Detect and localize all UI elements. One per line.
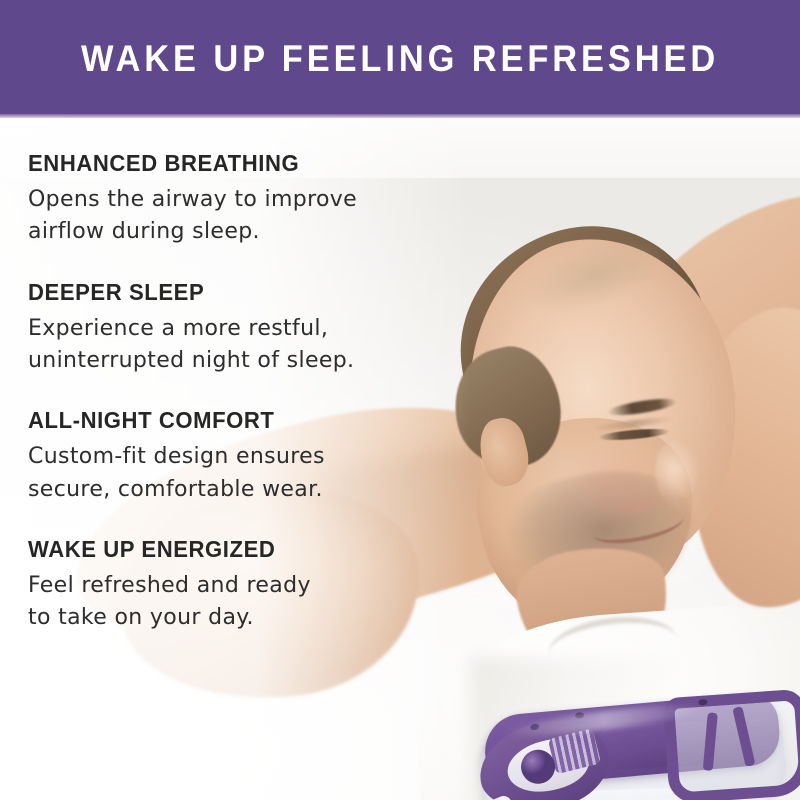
page-title: WAKE UP FEELING REFRESHED (81, 38, 719, 80)
benefit-line: Custom-fit design ensures (28, 441, 468, 473)
benefit-line: Experience a more restful, (28, 313, 468, 345)
benefit-line: Opens the airway to improve (28, 184, 468, 216)
benefit-line: airflow during sleep. (28, 216, 468, 248)
benefit-item: ENHANCED BREATHING Opens the airway to i… (28, 150, 468, 249)
benefit-title: ENHANCED BREATHING (28, 150, 450, 177)
benefit-line: to take on your day. (28, 602, 468, 634)
benefit-title: WAKE UP ENERGIZED (28, 536, 450, 563)
benefit-list: ENHANCED BREATHING Opens the airway to i… (28, 150, 468, 635)
benefit-line: Feel refreshed and ready (28, 570, 468, 602)
benefit-title: DEEPER SLEEP (28, 279, 450, 306)
product-feature-graphic: WAKE UP FEELING REFRESHED ENHANCED BREAT… (0, 0, 800, 800)
header-banner: WAKE UP FEELING REFRESHED (0, 0, 800, 118)
banner-bottom-edge (0, 114, 800, 118)
benefit-item: ALL-NIGHT COMFORT Custom-fit design ensu… (28, 407, 468, 506)
benefit-line: uninterrupted night of sleep. (28, 345, 468, 377)
benefit-item: WAKE UP ENERGIZED Feel refreshed and rea… (28, 536, 468, 635)
benefit-line: secure, comfortable wear. (28, 474, 468, 506)
benefit-title: ALL-NIGHT COMFORT (28, 407, 450, 434)
benefit-item: DEEPER SLEEP Experience a more restful, … (28, 279, 468, 378)
